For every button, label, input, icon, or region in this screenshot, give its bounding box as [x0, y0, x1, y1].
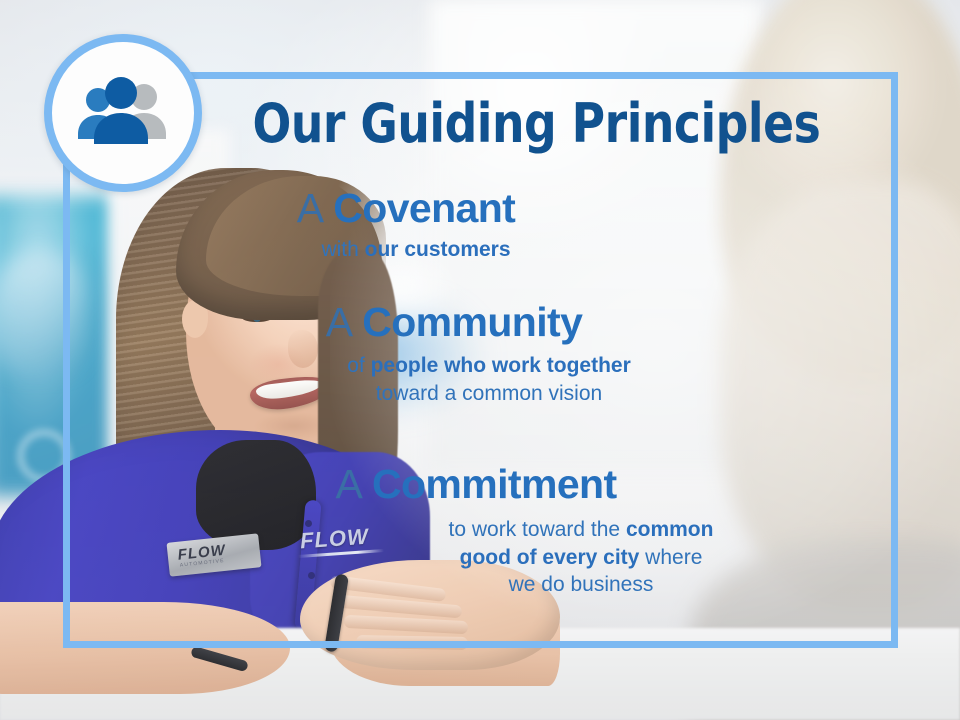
subtext-run: of	[347, 354, 370, 377]
principle-community: A Community of people who work togethert…	[0, 300, 960, 407]
principle-keyword: Community	[362, 299, 582, 345]
subtext-emphasis: people who work together	[371, 354, 631, 377]
principle-subtext: of people who work togethertoward a comm…	[0, 352, 908, 407]
principle-heading: A Commitment	[0, 462, 952, 506]
principle-article: A	[297, 185, 322, 231]
subtext-run: to work toward the	[449, 518, 626, 541]
page-title: Our Guiding Principles	[29, 96, 931, 153]
guiding-principles-graphic: FLOW AUTOMOTIVE FLOW	[0, 0, 960, 720]
subtext-run: where	[639, 546, 702, 569]
text-content: Our Guiding Principles A Covenant with o…	[0, 0, 960, 720]
principle-heading: A Covenant	[0, 186, 812, 230]
principle-keyword: Commitment	[372, 461, 617, 507]
principle-keyword: Covenant	[333, 185, 515, 231]
principle-commitment: A Commitment to work toward the commongo…	[0, 462, 960, 598]
principle-article: A	[335, 461, 360, 507]
subtext-emphasis: good of every city	[460, 546, 640, 569]
subtext-emphasis: our customers	[365, 238, 511, 261]
subtext-run: we do business	[509, 573, 654, 596]
subtext-run: toward a common vision	[376, 382, 602, 405]
principle-subtext: with our customers	[0, 236, 812, 263]
principle-covenant: A Covenant with our customers	[0, 186, 960, 264]
principle-subtext: to work toward the commongood of every c…	[0, 516, 952, 598]
principle-heading: A Community	[0, 300, 908, 344]
subtext-run: with	[321, 238, 364, 261]
subtext-emphasis: common	[626, 518, 714, 541]
principle-article: A	[326, 299, 351, 345]
